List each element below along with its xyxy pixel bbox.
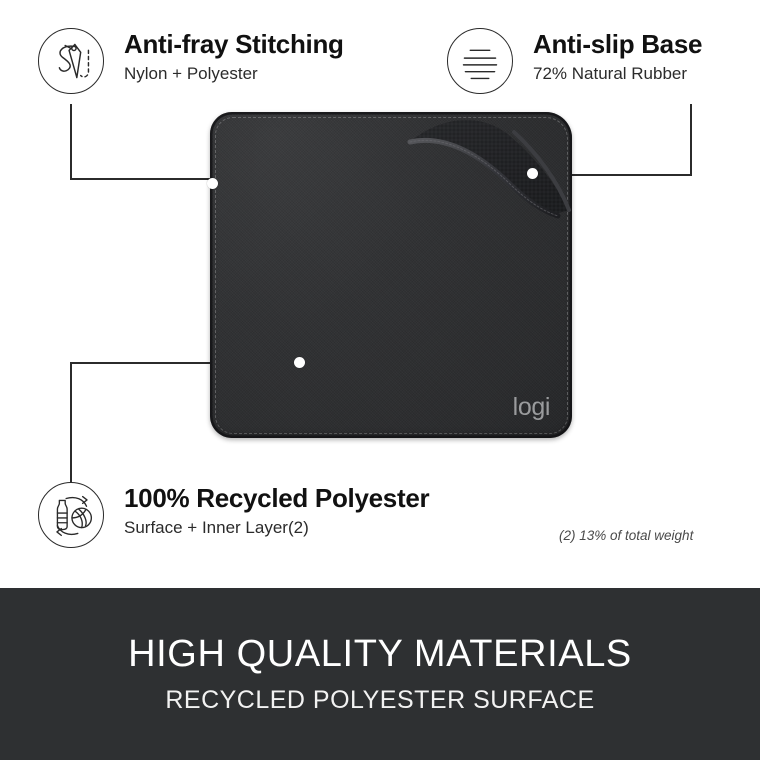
feature-text-block: 100% Recycled Polyester Surface + Inner … (124, 482, 429, 540)
needle-thread-icon (38, 28, 104, 94)
leader-line-antislip-vertical (690, 104, 692, 176)
callout-dot-stitching (207, 178, 218, 189)
rubber-lines-icon (447, 28, 513, 94)
feature-title: Anti-slip Base (533, 30, 702, 58)
feature-anti-slip-base: Anti-slip Base 72% Natural Rubber (447, 28, 702, 94)
feature-subtitle: 72% Natural Rubber (533, 63, 702, 86)
feature-text-block: Anti-fray Stitching Nylon + Polyester (124, 28, 344, 86)
bottom-banner: HIGH QUALITY MATERIALS RECYCLED POLYESTE… (0, 588, 760, 760)
callout-dot-recycled (294, 357, 305, 368)
banner-subtitle: RECYCLED POLYESTER SURFACE (165, 687, 594, 715)
feature-title: 100% Recycled Polyester (124, 484, 429, 512)
feature-text-block: Anti-slip Base 72% Natural Rubber (533, 28, 702, 86)
feature-title: Anti-fray Stitching (124, 30, 344, 58)
feature-anti-fray-stitching: Anti-fray Stitching Nylon + Polyester (38, 28, 344, 94)
callout-dot-antislip (527, 168, 538, 179)
leader-line-stitching-vertical (70, 104, 72, 180)
product-infographic: logi Anti-fray Stitching Nylon + Polyest… (0, 0, 760, 760)
footnote: (2) 13% of total weight (559, 528, 693, 543)
feature-recycled-polyester: 100% Recycled Polyester Surface + Inner … (38, 482, 429, 548)
banner-title: HIGH QUALITY MATERIALS (128, 634, 632, 676)
feature-subtitle: Nylon + Polyester (124, 63, 344, 86)
logi-logo: logi (513, 395, 550, 420)
feature-subtitle: Surface + Inner Layer(2) (124, 517, 429, 540)
leader-line-stitching-horizontal (70, 178, 212, 180)
mousepad-product-image: logi (210, 112, 572, 438)
fabric-texture (210, 112, 572, 438)
mousepad-surface (210, 112, 572, 438)
recycle-bottle-icon (38, 482, 104, 548)
leader-line-recycled-vertical (70, 362, 72, 482)
